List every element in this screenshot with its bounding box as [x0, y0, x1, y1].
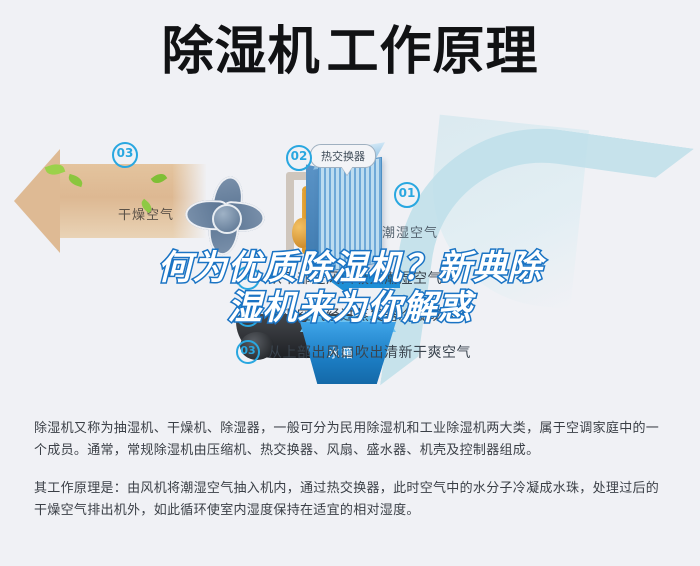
step-number: 02	[236, 303, 260, 327]
body-paragraph-1: 除湿机又称为抽湿机、干燥机、除湿器，一般可分为民用除湿机和工业除湿机两大类，属于…	[34, 418, 670, 462]
dehumidifier-diagram: 干燥空气	[0, 126, 700, 406]
badge-01: 01	[394, 182, 420, 208]
step-text: 从下部进风口吸入潮湿空气	[268, 268, 442, 288]
step-number: 03	[236, 340, 260, 364]
step-list: 01 从下部进风口吸入潮湿空气 02 潮湿空气经过蒸发器冷凝成水珠 03 从上部…	[236, 266, 696, 377]
step-number: 01	[236, 266, 260, 290]
paragraph-spacer	[34, 468, 670, 478]
page-title: 除湿机工作原理	[0, 22, 700, 82]
step-text: 潮湿空气经过蒸发器冷凝成水珠	[268, 305, 471, 325]
infographic-page: 除湿机工作原理 干燥空气	[0, 0, 700, 566]
page-title-part2: 工作原理	[327, 22, 539, 82]
step-item: 03 从上部出风口吹出清新干爽空气	[236, 340, 696, 364]
step-item: 01 从下部进风口吸入潮湿空气	[236, 266, 696, 290]
fan-icon	[176, 168, 272, 264]
page-title-part1: 除湿机	[161, 22, 320, 82]
pipe	[286, 172, 294, 258]
heat-exchanger-callout: 热交换器	[310, 144, 376, 168]
humid-air-label: 潮湿空气	[382, 222, 438, 241]
body-paragraph-2: 其工作原理是：由风机将潮湿空气抽入机内，通过热交换器，此时空气中的水分子冷凝成水…	[34, 478, 670, 522]
badge-02: 02	[286, 145, 312, 171]
step-item: 02 潮湿空气经过蒸发器冷凝成水珠	[236, 303, 696, 327]
fan-hub	[212, 204, 242, 234]
article-body: 除湿机又称为抽湿机、干燥机、除湿器，一般可分为民用除湿机和工业除湿机两大类，属于…	[34, 418, 670, 528]
step-text: 从上部出风口吹出清新干爽空气	[268, 342, 471, 362]
badge-03: 03	[112, 142, 138, 168]
